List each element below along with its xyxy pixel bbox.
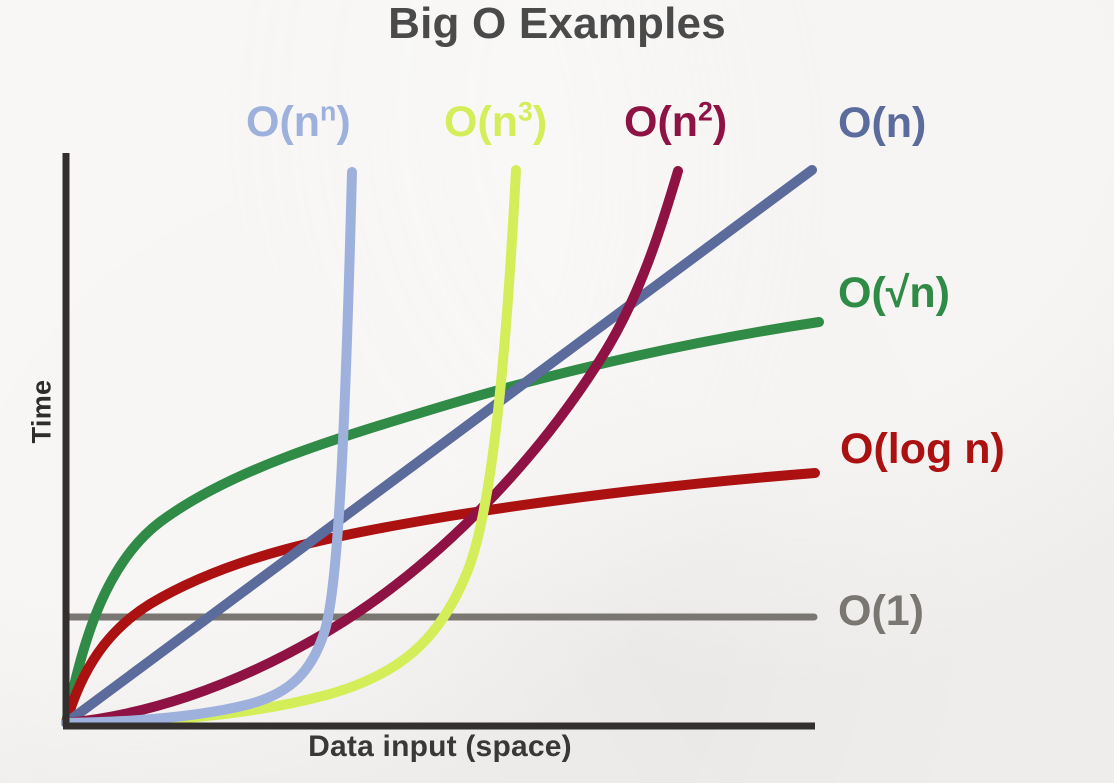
label-n-pow-n-close: ) [336,98,350,146]
label-n-cubed-close: ) [533,98,547,146]
label-n-squared-close: ) [713,98,727,146]
label-n-pow-n: O(nn) [246,101,351,144]
label-log-n: O(log n) [840,428,1005,471]
curve-linear [66,170,812,723]
x-axis-title: Data input (space) [65,730,815,764]
label-sqrt-n: O(√n) [838,272,950,315]
label-n-pow-n-exponent: n [320,97,336,127]
curve-sqrt-n [66,322,819,723]
curve-n-squared [66,171,678,723]
label-linear: O(n) [838,102,926,145]
label-n-cubed-base: O(n [444,98,518,146]
label-n-pow-n-base: O(n [246,98,320,146]
label-n-cubed: O(n3) [444,101,547,144]
label-n-squared-base: O(n [624,98,698,146]
curve-n-cubed [66,170,516,723]
big-o-chart-figure: Big O Examples O(nn) O(n3) O(n2) O(n) O(… [0,0,1114,783]
label-n-squared-exponent: 2 [698,97,713,127]
plot-area [0,0,1114,783]
label-n-squared: O(n2) [624,101,727,144]
label-constant: O(1) [838,590,924,633]
y-axis-title: Time [27,352,58,472]
label-n-cubed-exponent: 3 [518,97,533,127]
